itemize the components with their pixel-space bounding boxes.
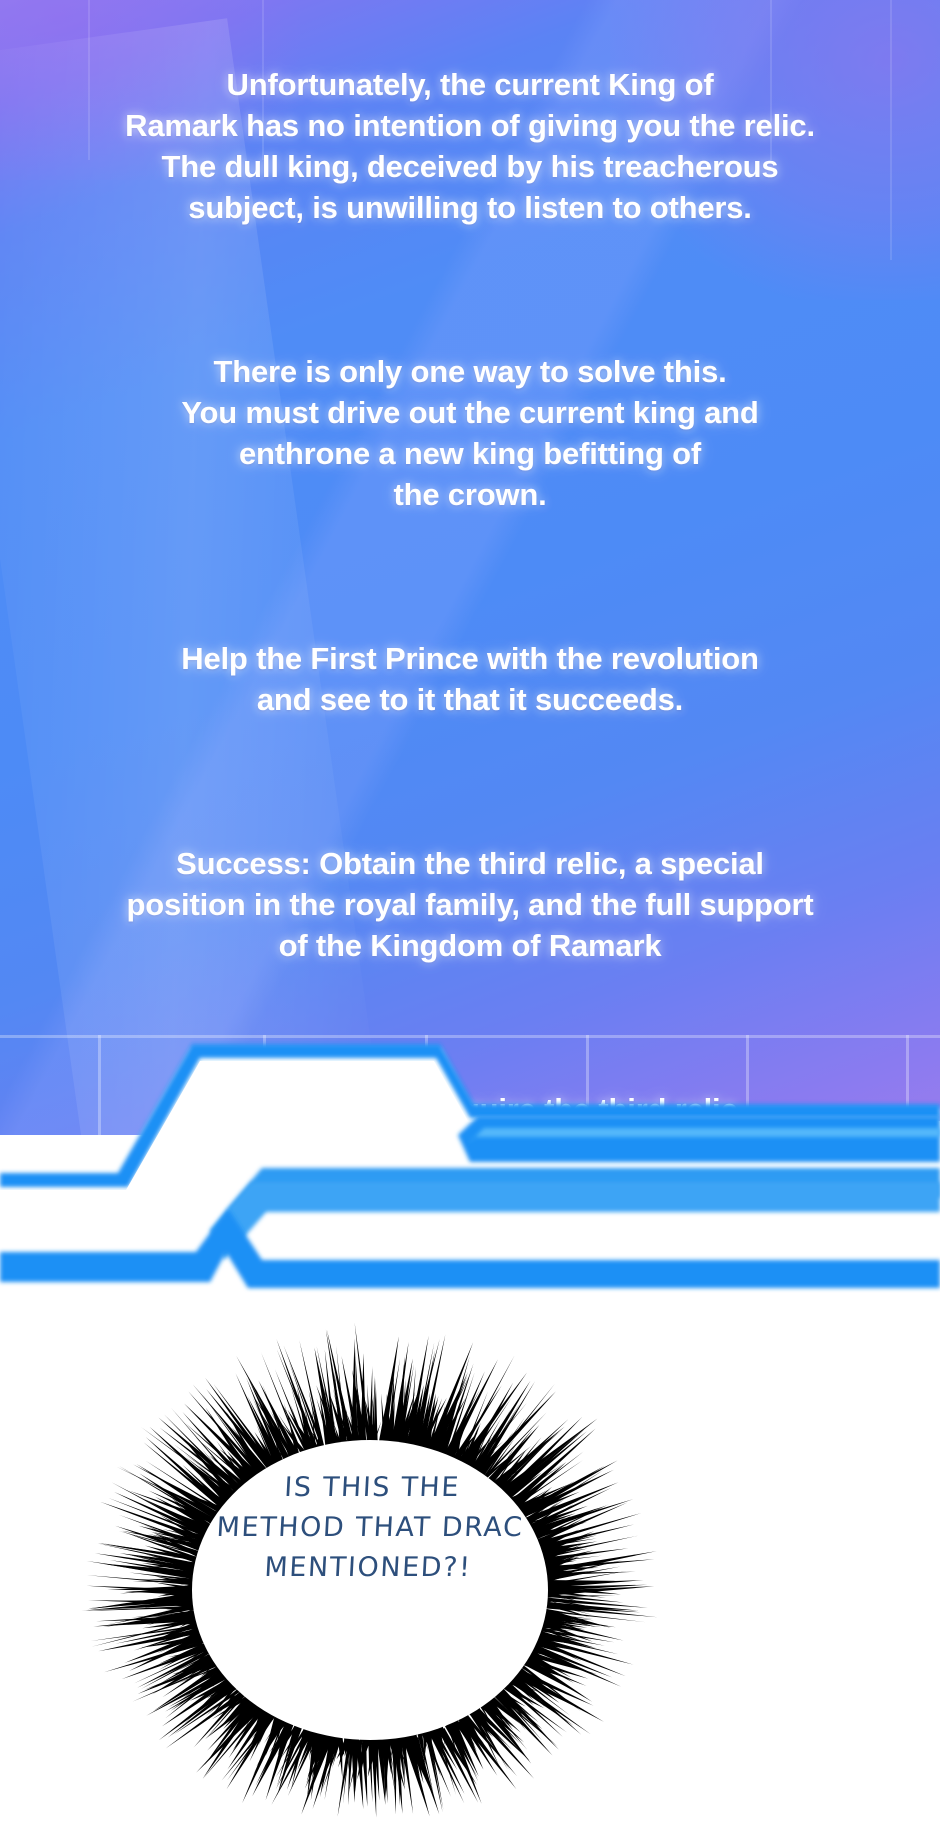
quest-panel: Unfortunately, the current King of Ramar… bbox=[0, 0, 940, 1135]
shout-bubble: IS THIS THE METHOD THAT DRAC MENTIONED?! bbox=[30, 1260, 710, 1828]
quest-failure-paragraph: Failure: Cannot acquire the third relic,… bbox=[0, 1089, 940, 1135]
bubble-text-line: MENTIONED?! bbox=[27, 1548, 709, 1588]
quest-paragraph: Help the First Prince with the revolutio… bbox=[0, 638, 940, 720]
shout-bubble-text: IS THIS THE METHOD THAT DRAC MENTIONED?! bbox=[27, 1468, 713, 1588]
bubble-spike bbox=[299, 1341, 324, 1447]
quest-paragraph: There is only one way to solve this. You… bbox=[0, 351, 940, 515]
quest-description-text: Unfortunately, the current King of Ramar… bbox=[0, 0, 940, 1135]
accent-gap bbox=[452, 1170, 940, 1188]
quest-paragraph: Unfortunately, the current King of Ramar… bbox=[0, 64, 940, 228]
accent-bar-lower-chevron bbox=[210, 1168, 940, 1260]
bubble-text-line: IS THIS THE bbox=[31, 1468, 713, 1508]
quest-success-paragraph: Success: Obtain the third relic, a speci… bbox=[0, 843, 940, 966]
bubble-text-line: METHOD THAT DRAC bbox=[29, 1508, 711, 1548]
comic-page: Unfortunately, the current King of Ramar… bbox=[0, 0, 940, 1828]
